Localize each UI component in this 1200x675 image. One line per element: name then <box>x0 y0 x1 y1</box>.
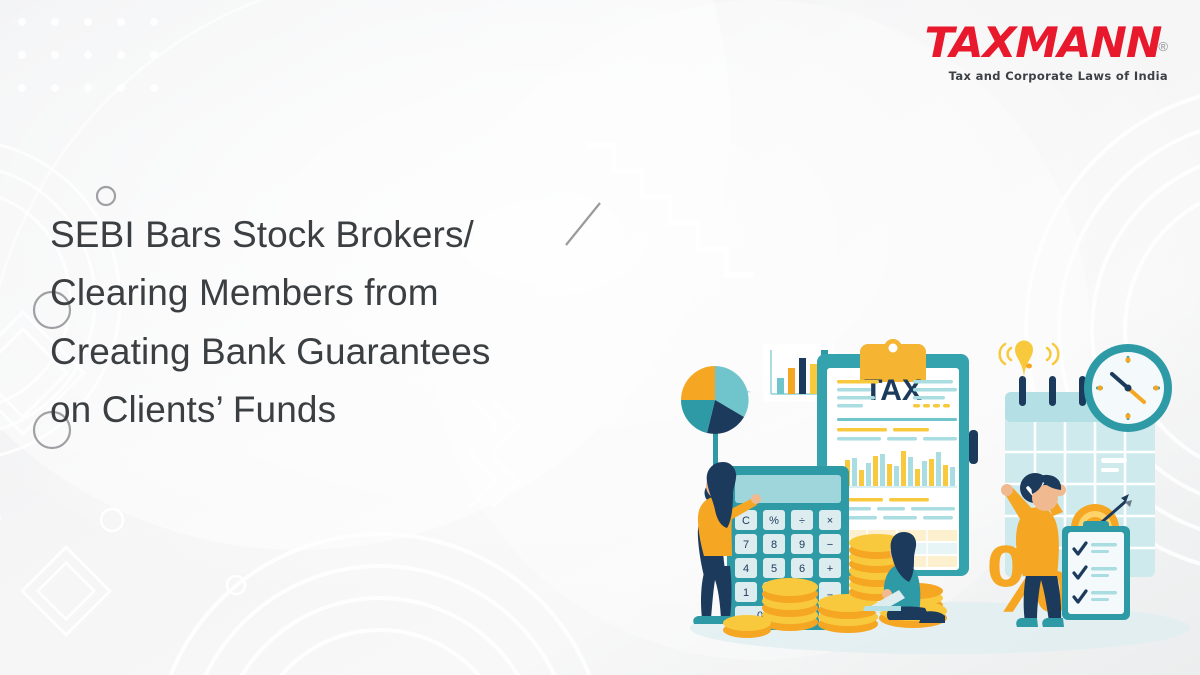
svg-text:1: 1 <box>743 587 749 599</box>
banner: TAXMANN® Tax and Corporate Laws of India… <box>0 0 1200 675</box>
svg-text:÷: ÷ <box>799 515 805 527</box>
svg-text:C: C <box>742 515 750 527</box>
page-title: SEBI Bars Stock Brokers/ Clearing Member… <box>50 206 670 440</box>
svg-text:7: 7 <box>743 539 749 551</box>
clock-icon <box>1084 344 1172 432</box>
headline-line-1: SEBI Bars Stock Brokers/ <box>50 206 670 264</box>
svg-text:5: 5 <box>771 563 777 575</box>
headline-line-4: on Clients’ Funds <box>50 381 670 439</box>
dot-grid-pattern <box>18 18 158 92</box>
svg-text:%: % <box>769 515 779 527</box>
checklist-icon <box>1062 521 1130 620</box>
svg-text:6: 6 <box>799 563 805 575</box>
taxmann-logo[interactable]: TAXMANN® Tax and Corporate Laws of India <box>929 22 1168 83</box>
bell-icon <box>1000 341 1059 380</box>
svg-text:+: + <box>827 563 833 575</box>
logo-tagline: Tax and Corporate Laws of India <box>929 71 1168 83</box>
svg-text:×: × <box>827 515 833 527</box>
logo-wordmark: TAXMANN® <box>929 22 1168 64</box>
arc-pattern-bottom <box>154 534 606 675</box>
svg-text:−: − <box>827 539 833 551</box>
logo-text: TAXMANN <box>924 22 1161 64</box>
tax-illustration: TAX <box>655 330 1200 660</box>
headline-line-2: Clearing Members from <box>50 264 670 322</box>
svg-text:4: 4 <box>743 563 749 575</box>
svg-text:8: 8 <box>771 539 777 551</box>
svg-text:9: 9 <box>799 539 805 551</box>
headline-line-3: Creating Bank Guarantees <box>50 323 670 381</box>
